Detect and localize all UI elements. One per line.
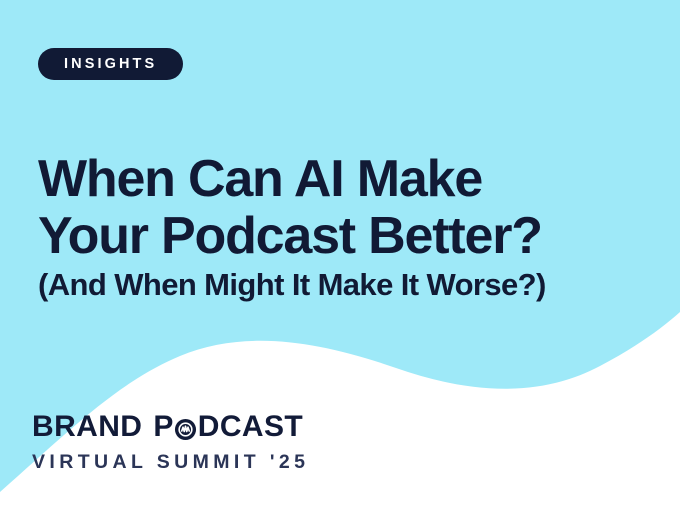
brand-tagline: VIRTUAL SUMMIT '25: [32, 453, 452, 473]
slide-content: INSIGHTS When Can AI Make Your Podcast B…: [0, 0, 680, 510]
subheadline: (And When Might It Make It Worse?): [38, 266, 658, 304]
wordmark-p-text: P: [153, 412, 173, 442]
brand-wordmark: BRAND P DCAST: [32, 412, 452, 442]
headline-line-1: When Can AI Make: [38, 151, 658, 208]
podcast-waveform-circle-icon: [174, 417, 197, 440]
brand-logo-lockup: BRAND P DCAST VIRTUAL SUMMIT '25: [32, 412, 452, 473]
insights-badge: INSIGHTS: [38, 48, 183, 80]
slide-canvas: INSIGHTS When Can AI Make Your Podcast B…: [0, 0, 680, 510]
headline: When Can AI Make Your Podcast Better?: [38, 151, 658, 265]
wordmark-dcast-text: DCAST: [198, 412, 303, 442]
wordmark-brand-text: BRAND: [32, 412, 142, 442]
insights-badge-label: INSIGHTS: [64, 57, 157, 72]
headline-line-2: Your Podcast Better?: [38, 208, 658, 265]
